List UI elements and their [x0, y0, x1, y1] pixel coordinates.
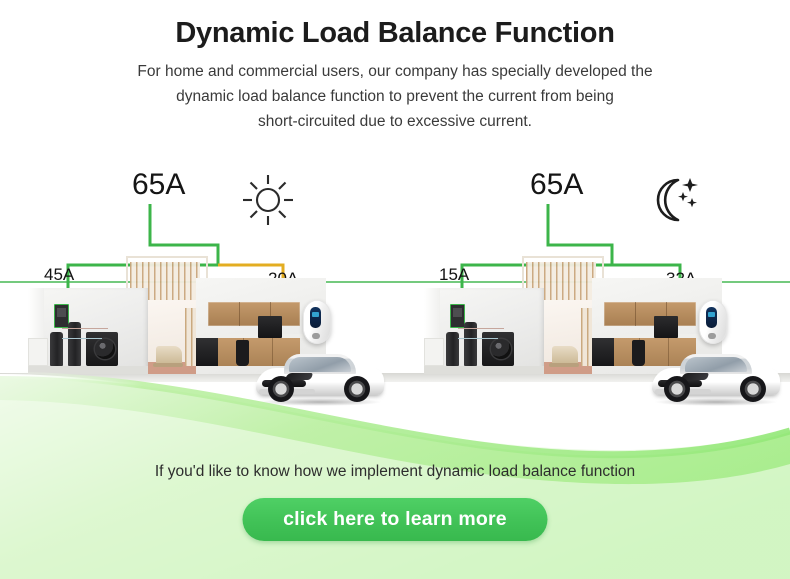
charger-connector: [312, 333, 320, 339]
kitchen-upper-cabinets: [208, 302, 300, 326]
distribution-panel-icon: [54, 304, 69, 328]
pipe-cold: [62, 338, 102, 339]
learn-more-button[interactable]: click here to learn more: [243, 498, 548, 541]
ev-charger-wallbox-day: [303, 300, 331, 344]
kitchen-upper-cabinets: [604, 302, 696, 326]
pipe-cold: [458, 338, 498, 339]
pipe-hot: [62, 328, 108, 329]
fridge-unit: [258, 316, 282, 338]
page-subtitle: For home and commercial users, our compa…: [45, 59, 745, 134]
ev-charger-wallbox-night: [699, 300, 727, 344]
charger-connector: [708, 333, 716, 339]
page-root: Dynamic Load Balance Function For home a…: [0, 0, 790, 579]
charger-screen: [310, 307, 321, 328]
subtitle-line-1: For home and commercial users, our compa…: [45, 59, 745, 84]
pipe-hot: [458, 328, 504, 329]
subtitle-line-3: short-circuited due to excessive current…: [45, 109, 745, 134]
distribution-panel-icon: [450, 304, 465, 328]
subtitle-line-2: dynamic load balance function to prevent…: [45, 84, 745, 109]
charger-screen: [706, 307, 717, 328]
fridge-unit: [654, 316, 678, 338]
footer-prompt: If you'd like to know how we implement d…: [0, 463, 790, 481]
washer-drum: [491, 339, 511, 359]
washer-drum: [95, 339, 115, 359]
page-title: Dynamic Load Balance Function: [0, 18, 790, 50]
header: Dynamic Load Balance Function For home a…: [0, 0, 790, 134]
